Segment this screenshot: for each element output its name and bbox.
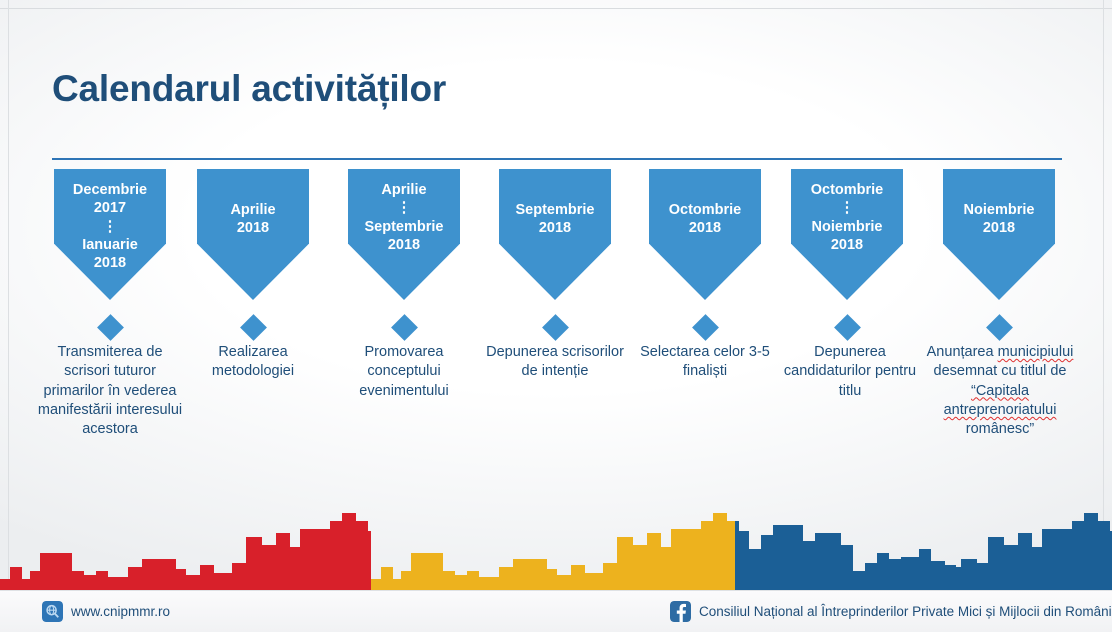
spellcheck-underline: antreprenoriatului <box>944 402 1057 418</box>
city-skyline-graphic <box>0 501 1112 591</box>
timeline-marker-4[interactable]: Septembrie 2018 <box>499 169 611 300</box>
footer-bar: www.cnipmmr.ro Consiliul Național al Înt… <box>0 590 1112 632</box>
timeline: Decembrie 2017 ⋮ Ianuarie 2018 Aprilie 2… <box>0 160 1112 330</box>
timeline-caption-1: Transmiterea de scrisori tuturor primari… <box>35 343 185 439</box>
slide-canvas: Calendarul activităților Decembrie 2017 … <box>0 0 1112 632</box>
timeline-marker-7-date: Noiembrie 2018 <box>961 179 1038 238</box>
timeline-marker-5-pentagon: Octombrie 2018 <box>649 169 761 300</box>
timeline-marker-6[interactable]: Octombrie ⋮ Noiembrie 2018 <box>791 169 903 300</box>
timeline-marker-1[interactable]: Decembrie 2017 ⋮ Ianuarie 2018 <box>54 169 166 300</box>
skyline-svg <box>0 501 1112 591</box>
timeline-marker-6-pentagon: Octombrie ⋮ Noiembrie 2018 <box>791 169 903 300</box>
timeline-caption-3: Promovarea conceptului evenimentului <box>329 343 479 401</box>
spellcheck-underline: municipiului <box>998 344 1074 360</box>
footer-facebook[interactable]: Consiliul Național al Întreprinderilor P… <box>670 601 1112 622</box>
timeline-marker-3[interactable]: Aprilie ⋮ Septembrie 2018 <box>348 169 460 300</box>
facebook-icon[interactable] <box>670 601 691 622</box>
timeline-caption-5: Selectarea celor 3-5 finaliști <box>630 343 780 382</box>
timeline-marker-3-pentagon: Aprilie ⋮ Septembrie 2018 <box>348 169 460 300</box>
timeline-axis-line <box>52 158 1062 160</box>
timeline-node-6-diamond-icon <box>834 314 861 341</box>
timeline-marker-2-date: Aprilie 2018 <box>227 179 278 238</box>
timeline-marker-4-pentagon: Septembrie 2018 <box>499 169 611 300</box>
page-title: Calendarul activităților <box>52 68 446 110</box>
timeline-marker-5[interactable]: Octombrie 2018 <box>649 169 761 300</box>
timeline-marker-1-date: Decembrie 2017 ⋮ Ianuarie 2018 <box>70 179 150 272</box>
timeline-node-2-diamond-icon <box>240 314 267 341</box>
footer-facebook-text[interactable]: Consiliul Național al Întreprinderilor P… <box>699 604 1112 619</box>
timeline-marker-7-pentagon: Noiembrie 2018 <box>943 169 1055 300</box>
timeline-marker-4-date: Septembrie 2018 <box>513 179 598 238</box>
timeline-marker-7[interactable]: Noiembrie 2018 <box>943 169 1055 300</box>
website-globe-icon[interactable] <box>42 601 63 622</box>
timeline-node-3-diamond-icon <box>391 314 418 341</box>
timeline-caption-6: Depunerea candidaturilor pentru titlu <box>772 343 928 401</box>
spellcheck-underline: “Capitala <box>971 383 1029 399</box>
timeline-caption-7: Anunțarea municipiului desemnat cu titlu… <box>922 343 1078 439</box>
footer-website-text[interactable]: www.cnipmmr.ro <box>71 604 170 619</box>
timeline-node-4-diamond-icon <box>542 314 569 341</box>
slide-edge-top <box>0 8 1112 9</box>
timeline-node-5-diamond-icon <box>692 314 719 341</box>
timeline-caption-2: Realizarea metodologiei <box>178 343 328 382</box>
timeline-marker-5-date: Octombrie 2018 <box>666 179 745 238</box>
timeline-node-1-diamond-icon <box>97 314 124 341</box>
timeline-caption-4: Depunerea scrisorilor de intenție <box>480 343 630 382</box>
timeline-marker-2-pentagon: Aprilie 2018 <box>197 169 309 300</box>
footer-website[interactable]: www.cnipmmr.ro <box>42 601 170 622</box>
timeline-marker-1-pentagon: Decembrie 2017 ⋮ Ianuarie 2018 <box>54 169 166 300</box>
timeline-node-7-diamond-icon <box>986 314 1013 341</box>
timeline-marker-6-date: Octombrie ⋮ Noiembrie 2018 <box>808 179 887 254</box>
timeline-marker-3-date: Aprilie ⋮ Septembrie 2018 <box>362 179 447 254</box>
timeline-marker-2[interactable]: Aprilie 2018 <box>197 169 309 300</box>
